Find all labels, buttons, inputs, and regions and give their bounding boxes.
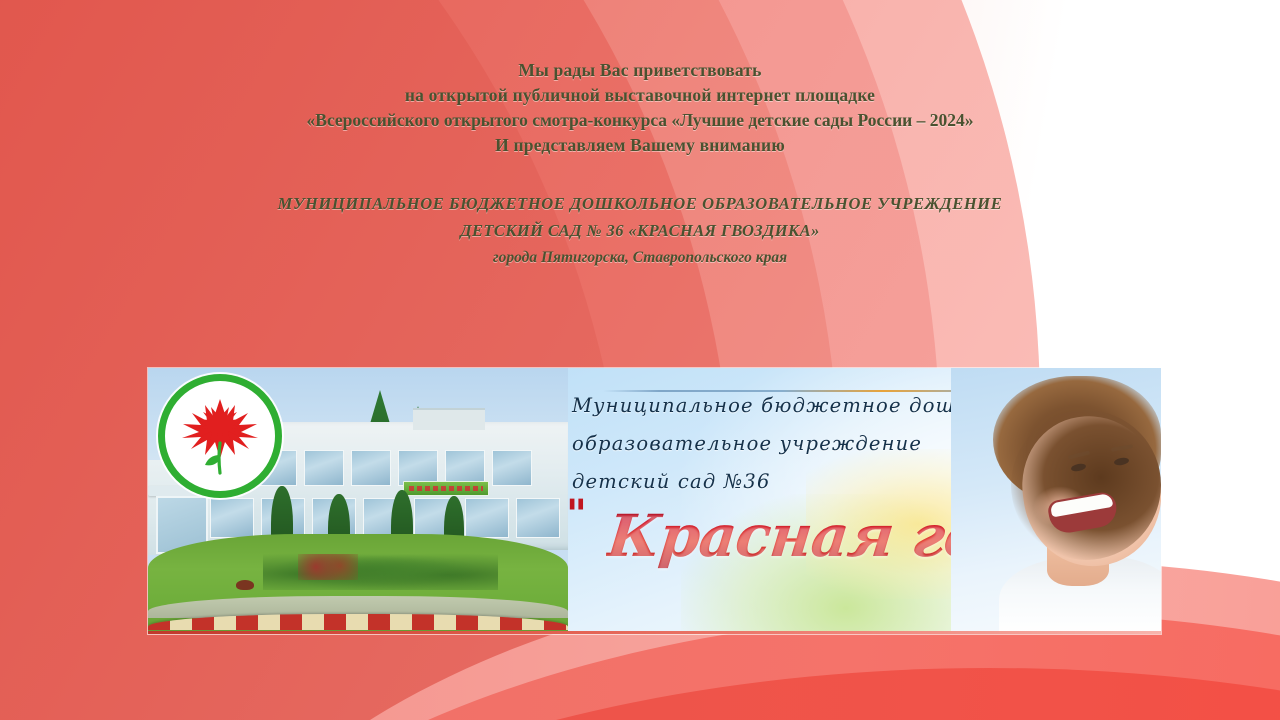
subhead-line-1: МУНИЦИПАЛЬНОЕ БЮДЖЕТНОЕ ДОШКОЛЬНОЕ ОБРАЗ…: [0, 190, 1280, 217]
welcome-headline: Мы рады Вас приветствовать на открытой п…: [0, 58, 1280, 158]
banner-bottom-edge: [148, 631, 1161, 634]
subhead-line-2: ДЕТСКИЙ САД № 36 «КРАСНАЯ ГВОЗДИКА»: [0, 217, 1280, 244]
roof-structure: [413, 408, 485, 430]
window: [465, 498, 509, 538]
headline-line-1: Мы рады Вас приветствовать: [0, 58, 1280, 83]
institution-subheading: МУНИЦИПАЛЬНОЕ БЮДЖЕТНОЕ ДОШКОЛЬНОЕ ОБРАЗ…: [0, 190, 1280, 271]
window: [304, 450, 344, 486]
subhead-line-3: города Пятигорска, Ставропольского края: [0, 244, 1280, 271]
window: [210, 498, 254, 538]
window: [492, 450, 532, 486]
presentation-slide: Мы рады Вас приветствовать на открытой п…: [0, 0, 1280, 720]
child-hair-curls: [1011, 410, 1161, 560]
quote-open: ": [566, 492, 583, 538]
window-row-lower: [210, 498, 560, 538]
playground-toy: [236, 580, 254, 590]
headline-line-4: И представляем Вашему вниманию: [0, 133, 1280, 158]
striped-curb: [148, 614, 568, 630]
headline-line-2: на открытой публичной выставочной интерн…: [0, 83, 1280, 108]
flower-bed: [298, 554, 358, 580]
banner-handwritten-line-3: детский сад №36: [572, 470, 771, 493]
kindergarten-banner: Муниципальное бюджетное дошкольное образ…: [148, 368, 1161, 634]
window: [516, 498, 560, 538]
child-photo: [951, 368, 1161, 634]
building-sign: [403, 481, 489, 496]
headline-line-3: «Всероссийского открытого смотра-конкурс…: [0, 108, 1280, 133]
banner-handwritten-line-2: образовательное учреждение: [572, 432, 922, 455]
carnation-logo-icon: [158, 374, 282, 498]
window: [351, 450, 391, 486]
